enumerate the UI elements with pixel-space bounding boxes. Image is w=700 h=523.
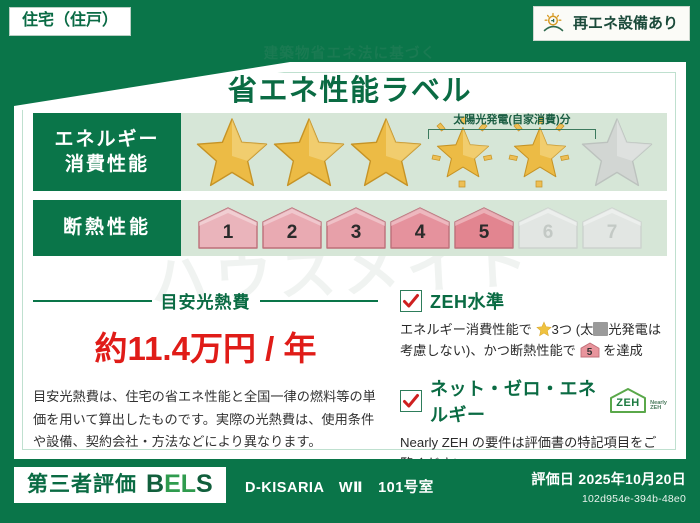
zeh-logo: ZEH Nearly ZEH (608, 387, 667, 414)
utility-cost-column: 目安光熱費 約11.4万円 / 年 目安光熱費は、住宅の省エネ性能と全国一律の燃… (33, 288, 378, 478)
redacted-character (593, 322, 608, 336)
solar-sun-icon (542, 12, 566, 34)
claim-text-end: を達成 (600, 343, 643, 358)
evaluation-id: 102d954e-394b-48e0 (531, 493, 686, 505)
heading-rule-left (33, 300, 152, 302)
energy-consumption-label: エネルギー 消費性能 (33, 113, 181, 191)
energy-consumption-value: 太陽光発電(自家消費)分 (181, 113, 667, 191)
evaluation-info: 評価日 2025年10月20日 102d954e-394b-48e0 (531, 469, 686, 505)
label-footer: 第三者評価 BELS D-KISARIA WⅡ 101号室 評価日 2025年1… (0, 459, 700, 523)
details-section: 目安光熱費 約11.4万円 / 年 目安光熱費は、住宅の省エネ性能と全国一律の燃… (33, 288, 667, 478)
star-3-filled (349, 115, 423, 189)
property-name: D-KISARIA WⅡ 101号室 (245, 476, 434, 497)
checkmark-icon (400, 390, 422, 412)
star-5-solar (503, 115, 577, 189)
claim-net-zero-title-text: ネット・ゼロ・エネルギー (430, 375, 602, 427)
inline-house-grade-icon: 5 (580, 342, 600, 358)
insulation-grade-value: 3 (325, 222, 387, 244)
performance-section: エネルギー 消費性能 太陽光発電(自家消費)分 断熱性能 1234567 (33, 113, 667, 265)
zeh-logo-subtext: Nearly ZEH (650, 401, 667, 415)
star-2-filled (272, 115, 346, 189)
utility-cost-amount: 約11.4万円 / 年 (33, 322, 378, 370)
energy-consumption-row: エネルギー 消費性能 太陽光発電(自家消費)分 (33, 113, 667, 191)
bels-letter-s: S (196, 470, 213, 498)
insulation-value: 1234567 (181, 200, 667, 256)
claim-text-mid: 3つ (太 (552, 322, 594, 337)
insulation-grade-value: 6 (517, 222, 579, 244)
utility-cost-heading-text: 目安光熱費 (161, 288, 251, 313)
insulation-grade-value: 1 (197, 222, 259, 244)
bels-letter-e: E (164, 470, 181, 498)
star-4-solar (426, 115, 500, 189)
bels-letter-b: B (146, 470, 164, 498)
inline-house-grade-value: 5 (580, 345, 600, 361)
bels-en-text: BELS (146, 472, 213, 497)
renewable-equipment-label: 再エネ設備あり (573, 16, 678, 31)
insulation-grade-value: 2 (261, 222, 323, 244)
bels-ja-text: 第三者評価 (27, 474, 137, 495)
zeh-sub-line2: ZEH (650, 405, 661, 411)
claim-zeh-standard: ZEH水準 エネルギー消費性能で 3つ (太光発電は考慮しない)、かつ断熱性能で… (400, 288, 667, 362)
insulation-grade-7-inactive: 7 (581, 206, 643, 250)
energy-label-line2: 消費性能 (65, 152, 149, 177)
bels-letter-l: L (181, 470, 196, 498)
checkmark-icon (400, 290, 422, 312)
insulation-grade-value: 4 (389, 222, 451, 244)
claim-zeh-standard-header: ZEH水準 (400, 288, 667, 314)
insulation-grade-6-inactive: 6 (517, 206, 579, 250)
renewable-equipment-badge: 再エネ設備あり (533, 6, 690, 41)
claim-zeh-standard-title: ZEH水準 (430, 288, 505, 314)
heading-rule-right (260, 300, 379, 302)
claim-zeh-standard-body: エネルギー消費性能で 3つ (太光発電は考慮しない)、かつ断熱性能で 5 を達成 (400, 319, 667, 362)
star-6-empty (580, 115, 654, 189)
building-type-badge: 住宅（住戸） (9, 7, 131, 36)
insulation-grade-value: 7 (581, 222, 643, 244)
claim-net-zero-title: ネット・ゼロ・エネルギー ZEH Nearly ZEH (430, 375, 667, 427)
energy-performance-label: 建築物省エネ法に基づく 省エネ性能ラベル 住宅（住戸） 再エネ設備あり ハウスメ… (0, 0, 700, 523)
insulation-grade-5-achieved: 5 (453, 206, 515, 250)
bels-logo: 第三者評価 BELS (14, 467, 226, 503)
claim-net-zero-header: ネット・ゼロ・エネルギー ZEH Nearly ZEH (400, 375, 667, 427)
inline-star-icon (536, 321, 552, 337)
insulation-grade-3-achieved: 3 (325, 206, 387, 250)
star-rating (195, 115, 654, 189)
energy-label-line1: エネルギー (54, 127, 159, 152)
insulation-row: 断熱性能 1234567 (33, 200, 667, 256)
insulation-grade-4-achieved: 4 (389, 206, 451, 250)
evaluation-date: 評価日 2025年10月20日 (531, 469, 686, 489)
insulation-grade-1-achieved: 1 (197, 206, 259, 250)
insulation-grade-value: 5 (453, 222, 515, 244)
star-1-filled (195, 115, 269, 189)
claim-text-pre: エネルギー消費性能で (400, 322, 536, 337)
utility-cost-note: 目安光熱費は、住宅の省エネ性能と全国一律の燃料等の単価を用いて算出したものです。… (33, 386, 378, 454)
page-title: 省エネ性能ラベル (0, 67, 700, 109)
insulation-grade-scale: 1234567 (197, 206, 643, 250)
utility-cost-heading: 目安光熱費 (33, 288, 378, 313)
insulation-grade-2-achieved: 2 (261, 206, 323, 250)
header-subtitle: 建築物省エネ法に基づく (0, 42, 700, 63)
zeh-claims-column: ZEH水準 エネルギー消費性能で 3つ (太光発電は考慮しない)、かつ断熱性能で… (378, 288, 667, 478)
svg-text:ZEH: ZEH (616, 397, 640, 409)
insulation-label: 断熱性能 (33, 200, 181, 256)
